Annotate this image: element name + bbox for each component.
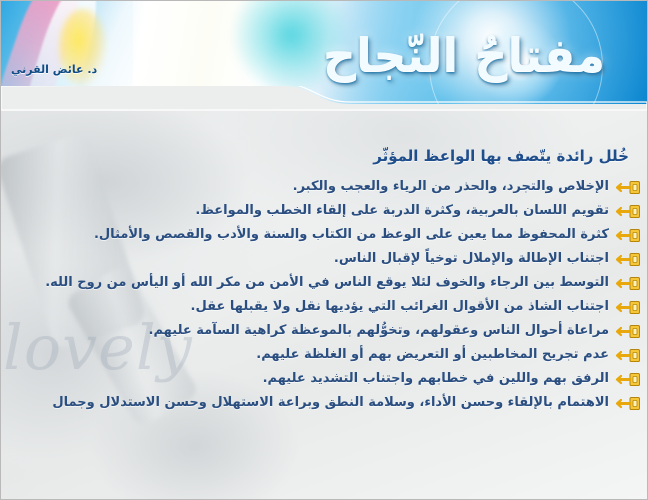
list-item: اجتناب الإطالة والإملال توخياً لإقبال ال… — [5, 249, 641, 269]
list-item: تقويم اللسان بالعربية، وكثرة الدربة على … — [5, 201, 641, 221]
section-heading: خُلل رائدة يتّصف بها الواعظ المؤثّر — [1, 111, 647, 165]
list-item-label: كثرة المحفوظ مما يعين على الوعظ من الكتا… — [5, 225, 609, 244]
list-item-label: الرفق بهم واللين في خطابهم واجتناب التشد… — [5, 369, 609, 388]
key-icon — [615, 323, 641, 340]
key-icon — [615, 371, 641, 388]
list-item-label: تقويم اللسان بالعربية، وكثرة الدربة على … — [5, 201, 609, 220]
list-item-label: التوسط بين الرجاء والخوف لئلا يوقع الناس… — [5, 273, 609, 292]
points-list: الإخلاص والتجرد، والحذر من الرياء والعجب… — [1, 177, 647, 413]
site-title: مفتاحُ النّجاح — [299, 7, 629, 103]
list-item-label: مراعاة أحوال الناس وعقولهم، وتخوُّلهم با… — [5, 321, 609, 340]
content-area: lovely خُلل رائدة يتّصف بها الواعظ المؤث… — [1, 111, 647, 500]
list-item: مراعاة أحوال الناس وعقولهم، وتخوُّلهم با… — [5, 321, 641, 341]
list-item: التوسط بين الرجاء والخوف لئلا يوقع الناس… — [5, 273, 641, 293]
key-icon — [615, 179, 641, 196]
list-item-label: عدم تجريح المخاطبين أو التعريض بهم أو ال… — [5, 345, 609, 364]
list-item: كثرة المحفوظ مما يعين على الوعظ من الكتا… — [5, 225, 641, 245]
list-item-label: اجتناب الشاذ من الأقوال الغرائب التي يؤد… — [5, 297, 609, 316]
key-icon — [615, 347, 641, 364]
key-icon — [615, 251, 641, 268]
article-body: خُلل رائدة يتّصف بها الواعظ المؤثّر الإخ… — [1, 111, 647, 413]
key-icon — [615, 203, 641, 220]
list-item-label: الإخلاص والتجرد، والحذر من الرياء والعجب… — [5, 177, 609, 196]
page-root: مفتاحُ النّجاح د. عائض القرني lovely خُل… — [0, 0, 648, 500]
list-item: الاهتمام بالإلقاء وحسن الأداء، وسلامة ال… — [5, 393, 641, 413]
header-banner: مفتاحُ النّجاح د. عائض القرني — [1, 1, 647, 111]
list-item: اجتناب الشاذ من الأقوال الغرائب التي يؤد… — [5, 297, 641, 317]
list-item: عدم تجريح المخاطبين أو التعريض بهم أو ال… — [5, 345, 641, 365]
key-icon — [615, 299, 641, 316]
key-icon — [615, 395, 641, 412]
key-icon — [615, 227, 641, 244]
list-item: الرفق بهم واللين في خطابهم واجتناب التشد… — [5, 369, 641, 389]
key-icon — [615, 275, 641, 292]
list-item: الإخلاص والتجرد، والحذر من الرياء والعجب… — [5, 177, 641, 197]
author-name: د. عائض القرني — [11, 63, 97, 76]
list-item-label: الاهتمام بالإلقاء وحسن الأداء، وسلامة ال… — [5, 393, 609, 412]
list-item-label: اجتناب الإطالة والإملال توخياً لإقبال ال… — [5, 249, 609, 268]
